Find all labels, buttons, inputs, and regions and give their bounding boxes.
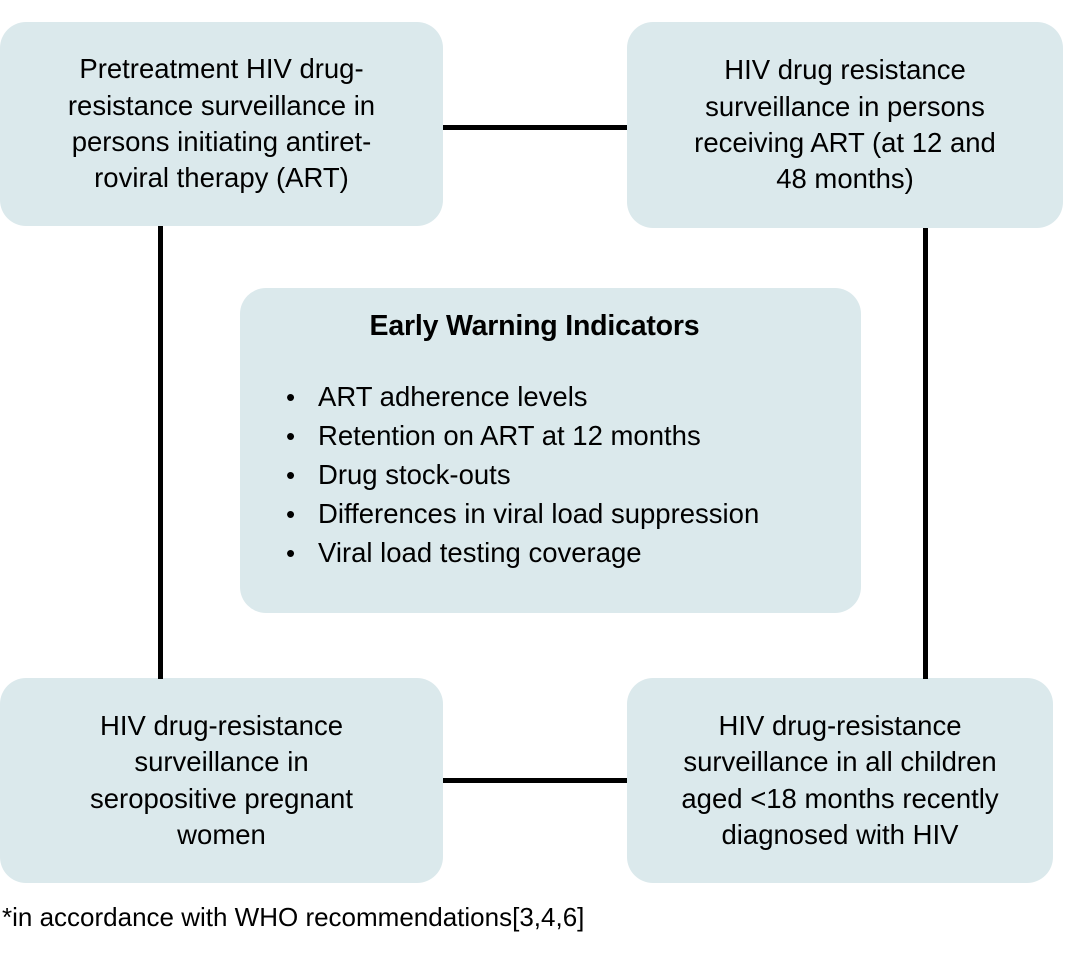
bullet-icon: • <box>286 535 318 572</box>
list-item: • Viral load testing coverage <box>286 533 831 572</box>
connector-right-vertical <box>923 228 928 679</box>
node-early-warning-indicators: Early Warning Indicators • ART adherence… <box>240 288 861 613</box>
node-pregnant-line-1: HIV drug-resistance <box>100 708 343 744</box>
node-pregnant-line-3: seropositive pregnant <box>90 781 353 817</box>
bullet-icon: • <box>286 379 318 416</box>
connector-left-vertical <box>158 226 163 679</box>
node-children-line-3: aged <18 months recently <box>681 781 998 817</box>
node-children-line-4: diagnosed with HIV <box>722 817 959 853</box>
node-children-line-2: surveillance in all children <box>683 744 996 780</box>
list-item-label: Drug stock-outs <box>318 455 831 494</box>
node-on-art-line-3: receiving ART (at 12 and <box>694 125 996 161</box>
node-children-surveillance: HIV drug-resistance surveillance in all … <box>627 678 1053 883</box>
node-on-art-surveillance: HIV drug resistance surveillance in pers… <box>627 22 1063 228</box>
node-pregnant-women-surveillance: HIV drug-resistance surveillance in sero… <box>0 678 443 883</box>
node-pretreatment-line-3: persons initiating antiret- <box>72 124 372 160</box>
list-item: • Differences in viral load suppression <box>286 494 831 533</box>
node-on-art-line-4: 48 months) <box>776 161 914 197</box>
node-children-line-1: HIV drug-resistance <box>718 708 961 744</box>
early-warning-indicators-list: • ART adherence levels • Retention on AR… <box>282 377 831 572</box>
node-on-art-line-1: HIV drug resistance <box>724 52 966 88</box>
early-warning-indicators-title: Early Warning Indicators <box>282 310 831 343</box>
node-on-art-line-2: surveillance in persons <box>705 89 985 125</box>
list-item-label: Differences in viral load suppression <box>318 494 831 533</box>
bullet-icon: • <box>286 457 318 494</box>
bullet-icon: • <box>286 418 318 455</box>
list-item: • Retention on ART at 12 months <box>286 416 831 455</box>
list-item-label: Retention on ART at 12 months <box>318 416 831 455</box>
list-item: • Drug stock-outs <box>286 455 831 494</box>
diagram-canvas: Pretreatment HIV drug- resistance survei… <box>0 0 1080 963</box>
list-item-label: ART adherence levels <box>318 377 831 416</box>
node-pretreatment-line-2: resistance surveillance in <box>68 88 375 124</box>
node-pretreatment-line-4: roviral therapy (ART) <box>94 160 349 196</box>
connector-bottom-horizontal <box>443 778 627 783</box>
node-pregnant-line-2: surveillance in <box>134 744 308 780</box>
footnote-who-recommendations: *in accordance with WHO recommendations[… <box>2 902 584 933</box>
node-pregnant-line-4: women <box>177 817 266 853</box>
list-item: • ART adherence levels <box>286 377 831 416</box>
list-item-label: Viral load testing coverage <box>318 533 831 572</box>
bullet-icon: • <box>286 496 318 533</box>
node-pretreatment-surveillance: Pretreatment HIV drug- resistance survei… <box>0 22 443 226</box>
node-pretreatment-line-1: Pretreatment HIV drug- <box>79 51 363 87</box>
connector-top-horizontal <box>443 125 627 130</box>
